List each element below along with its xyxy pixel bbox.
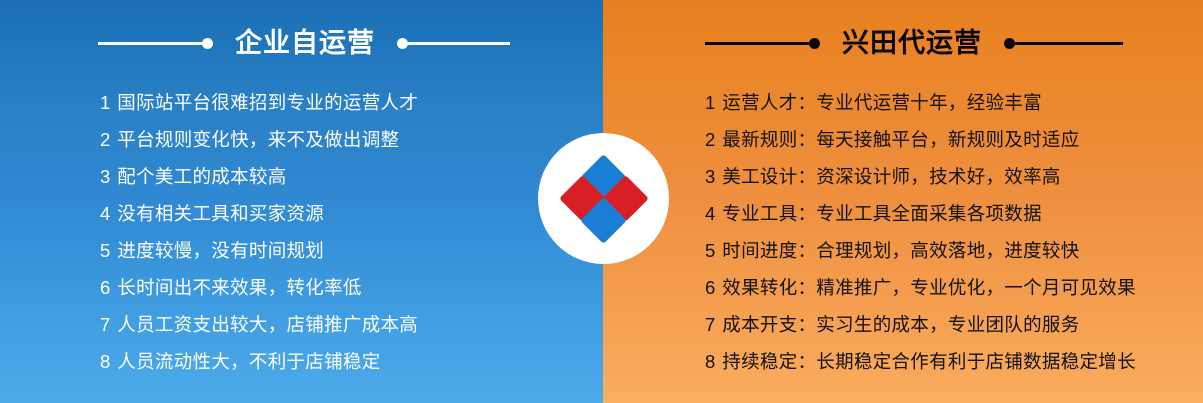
list-item-label: 成本开支：实习生的成本，专业团队的服务	[722, 306, 1079, 343]
list-item-number: 8	[100, 343, 110, 380]
list-item-number: 6	[100, 269, 110, 306]
right-header-decoration-leading	[705, 38, 820, 49]
list-item-label: 人员流动性大，不利于店铺稳定	[117, 343, 380, 380]
list-item: 4专业工具：专业工具全面采集各项数据	[705, 195, 1175, 232]
list-item-label: 最新规则：每天接触平台，新规则及时适应	[722, 121, 1079, 158]
left-panel-title: 企业自运营	[235, 30, 375, 57]
list-item-number: 2	[100, 121, 110, 158]
list-item-label: 美工设计：资深设计师，技术好，效率高	[722, 158, 1060, 195]
list-item-number: 4	[705, 195, 715, 232]
list-item-label: 配个美工的成本较高	[117, 158, 286, 195]
list-item-label: 长时间出不来效果，转化率低	[117, 269, 361, 306]
right-panel-list: 1运营人才：专业代运营十年，经验丰富 2最新规则：每天接触平台，新规则及时适应 …	[705, 84, 1175, 380]
list-item-label: 国际站平台很难招到专业的运营人才	[117, 84, 418, 121]
left-header-decoration-leading	[98, 38, 213, 49]
dot-icon	[202, 38, 213, 49]
comparison-banner: 企业自运营 兴田代运营 1国际站平台很难招到专业的运营人才 2平台规则变化快，来…	[0, 0, 1203, 403]
list-item-label: 专业工具：专业工具全面采集各项数据	[722, 195, 1042, 232]
list-item-label: 人员工资支出较大，店铺推广成本高	[117, 306, 418, 343]
list-item: 1国际站平台很难招到专业的运营人才	[100, 84, 570, 121]
list-item-number: 8	[705, 343, 715, 380]
list-item-number: 7	[100, 306, 110, 343]
list-item-number: 7	[705, 306, 715, 343]
list-item-number: 1	[705, 84, 715, 121]
list-item-label: 运营人才：专业代运营十年，经验丰富	[722, 84, 1042, 121]
list-item-number: 5	[705, 232, 715, 269]
list-item-number: 5	[100, 232, 110, 269]
list-item: 5进度较慢，没有时间规划	[100, 232, 570, 269]
list-item-number: 4	[100, 195, 110, 232]
list-item-label: 没有相关工具和买家资源	[117, 195, 324, 232]
list-item: 8人员流动性大，不利于店铺稳定	[100, 343, 570, 380]
list-item-label: 效果转化：精准推广，专业优化，一个月可见效果	[722, 269, 1136, 306]
list-item: 6效果转化：精准推广，专业优化，一个月可见效果	[705, 269, 1175, 306]
right-panel-header: 兴田代运营	[705, 22, 1115, 64]
list-item: 3配个美工的成本较高	[100, 158, 570, 195]
list-item: 7人员工资支出较大，店铺推广成本高	[100, 306, 570, 343]
right-panel-title: 兴田代运营	[842, 30, 982, 57]
center-logo-badge	[538, 133, 669, 264]
dot-icon	[809, 38, 820, 49]
list-item-number: 6	[705, 269, 715, 306]
list-item-number: 2	[705, 121, 715, 158]
list-item-label: 持续稳定：长期稳定合作有利于店铺数据稳定增长	[722, 343, 1136, 380]
line-icon	[98, 42, 202, 45]
list-item-label: 时间进度：合理规划，高效落地，进度较快	[722, 232, 1079, 269]
list-item: 7成本开支：实习生的成本，专业团队的服务	[705, 306, 1175, 343]
left-header-decoration-trailing	[397, 38, 510, 49]
list-item: 1运营人才：专业代运营十年，经验丰富	[705, 84, 1175, 121]
dot-icon	[1004, 38, 1015, 49]
line-icon	[408, 42, 510, 45]
list-item: 3美工设计：资深设计师，技术好，效率高	[705, 158, 1175, 195]
left-panel-list: 1国际站平台很难招到专业的运营人才 2平台规则变化快，来不及做出调整 3配个美工…	[100, 84, 570, 380]
list-item: 5时间进度：合理规划，高效落地，进度较快	[705, 232, 1175, 269]
line-icon	[1015, 42, 1123, 45]
list-item: 2平台规则变化快，来不及做出调整	[100, 121, 570, 158]
list-item-number: 3	[100, 158, 110, 195]
line-icon	[705, 42, 809, 45]
list-item-label: 进度较慢，没有时间规划	[117, 232, 324, 269]
four-diamond-logo	[566, 161, 642, 237]
list-item: 4没有相关工具和买家资源	[100, 195, 570, 232]
right-header-decoration-trailing	[1004, 38, 1123, 49]
list-item: 8持续稳定：长期稳定合作有利于店铺数据稳定增长	[705, 343, 1175, 380]
dot-icon	[397, 38, 408, 49]
list-item: 2最新规则：每天接触平台，新规则及时适应	[705, 121, 1175, 158]
left-panel-header: 企业自运营	[98, 22, 503, 64]
list-item: 6长时间出不来效果，转化率低	[100, 269, 570, 306]
list-item-number: 1	[100, 84, 110, 121]
list-item-label: 平台规则变化快，来不及做出调整	[117, 121, 399, 158]
list-item-number: 3	[705, 158, 715, 195]
